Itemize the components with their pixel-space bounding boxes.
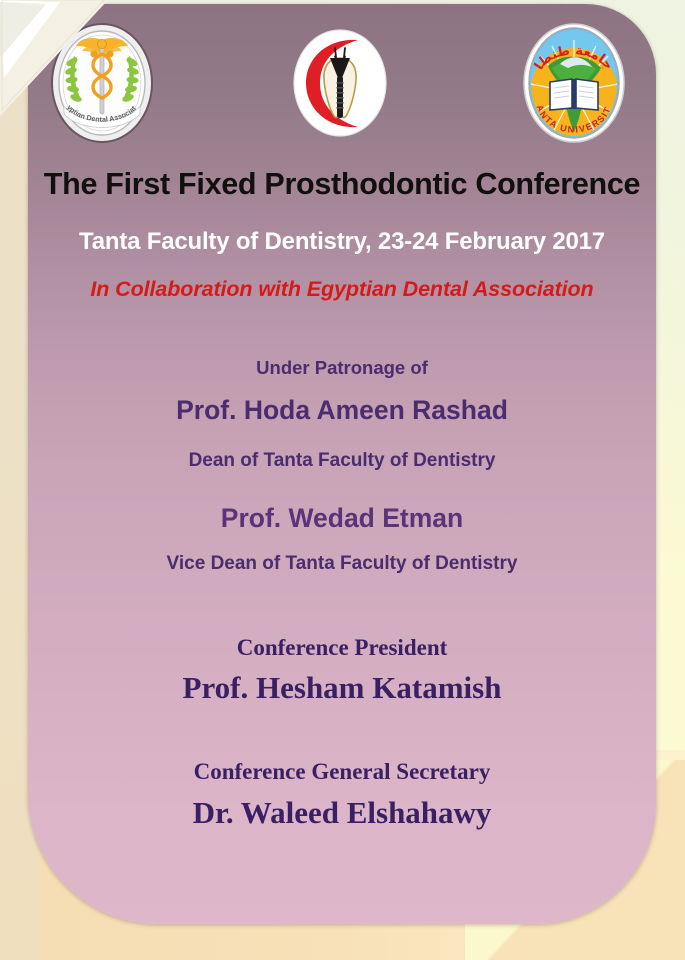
tanta-faculty-of-dentistry-logo [290, 28, 390, 138]
watermark-text [33, 929, 123, 938]
poster-card: Egyptian Dental Association [28, 4, 656, 924]
conference-poster: Egyptian Dental Association [0, 0, 685, 960]
conference-secretary-label: Conference General Secretary [28, 759, 656, 785]
poster-subtitle: Tanta Faculty of Dentistry, 23-24 Februa… [28, 228, 656, 256]
patronage-name: Prof. Hoda Ameen Rashad [28, 395, 656, 426]
logo-row: Egyptian Dental Association [28, 22, 656, 144]
tanta-university-logo: جامعة طنطا TANTA UNIVERSITY [522, 22, 626, 144]
conference-president-name: Prof. Hesham Katamish [28, 670, 656, 706]
conference-secretary-name: Dr. Waleed Elshahawy [28, 795, 656, 831]
vice-dean-name: Prof. Wedad Etman [28, 503, 656, 534]
page-title: The First Fixed Prosthodontic Conference [28, 167, 656, 202]
folded-corner-icon [0, 0, 112, 120]
patronage-role: Dean of Tanta Faculty of Dentistry [28, 450, 656, 472]
vice-dean-role: Vice Dean of Tanta Faculty of Dentistry [28, 553, 656, 575]
patronage-label: Under Patronage of [28, 357, 656, 379]
conference-president-label: Conference President [28, 635, 656, 661]
collaboration-line: In Collaboration with Egyptian Dental As… [28, 277, 656, 302]
